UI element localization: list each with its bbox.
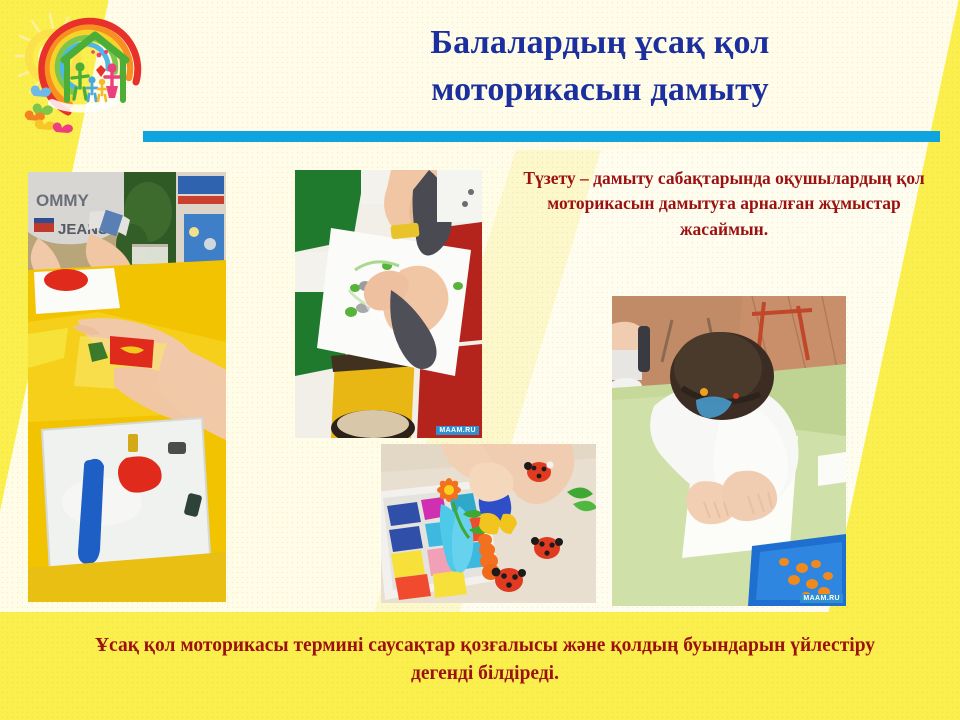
slide-title-line-2: моторикасын дамыту xyxy=(250,67,950,114)
slide-title-line-1: Балалардың ұсақ қол xyxy=(250,20,950,67)
slide-title: Балалардың ұсақ қол моторикасын дамыту xyxy=(250,20,950,114)
presentation-slide: Балалардың ұсақ қол моторикасын дамыту Т… xyxy=(0,0,960,720)
photo-boy-green-table: MAAM.RU xyxy=(612,296,846,606)
sun-house-family-rainbow-logo xyxy=(12,8,162,140)
photo-green-dots-paper: MAAM.RU xyxy=(295,170,482,438)
title-divider-rule xyxy=(143,131,940,142)
caption-text: Ұсақ қол моторикасы термині саусақтар қо… xyxy=(66,632,904,687)
subtitle-text: Түзету – дамыту сабақтарында оқушылардың… xyxy=(512,166,936,242)
photo-children-plasticine-yellow-table: OMMY JEANS xyxy=(28,172,226,602)
svg-text:OMMY: OMMY xyxy=(36,191,90,210)
watermark-badge: MAAM.RU xyxy=(800,594,843,603)
photo-plasticine-figures xyxy=(381,444,596,603)
watermark-badge: MAAM.RU xyxy=(436,426,479,435)
